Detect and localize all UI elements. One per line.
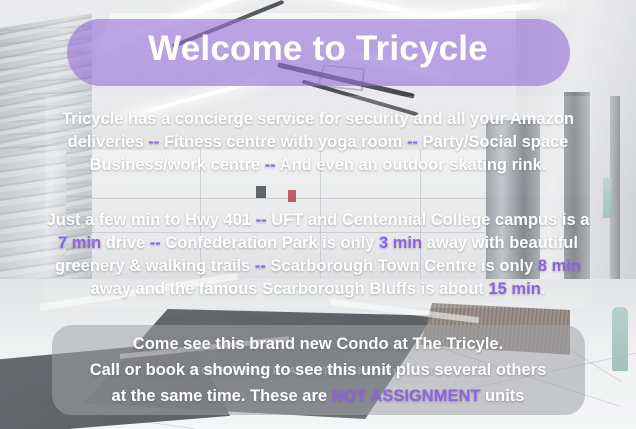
location-line-1b: UFT and Centennial College campus is a [267, 211, 590, 229]
cta-line-3b: units [480, 387, 524, 405]
amenities-paragraph: Tricycle has a concierge service for sec… [24, 108, 612, 177]
amenities-line-3a: Business/work centre [90, 156, 265, 174]
slide-content: Welcome to Tricycle Tricycle has a conci… [0, 0, 636, 429]
separator-dash: -- [407, 133, 418, 151]
cta-line-3a: at the same time. These are [112, 387, 332, 405]
location-line-4b: . [541, 280, 546, 298]
amenities-line-2b: Fitness centre with yoga room [159, 133, 407, 151]
location-paragraph: Just a few min to Hwy 401 -- UFT and Cen… [24, 209, 612, 301]
location-line-1a: Just a few min to Hwy 401 [47, 211, 256, 229]
amenities-line-3b: And even an outdoor skating rink. [276, 156, 547, 174]
separator-dash: -- [150, 234, 161, 252]
location-line-3a: greenery & walking trails [55, 257, 255, 275]
drive-time-3min: 3 min [379, 234, 422, 252]
drive-time-8min: 8 min [538, 257, 581, 275]
cta-line-2: Call or book a showing to see this unit … [90, 361, 547, 379]
location-line-2c: away with beautiful [422, 234, 578, 252]
not-assignment-highlight: NOT ASSIGNMENT [332, 387, 481, 405]
amenities-line-1: Tricycle has a concierge service for sec… [62, 110, 574, 128]
drive-time-7min: 7 min [58, 234, 101, 252]
location-line-3b: Scarborough Town Centre is only [266, 257, 538, 275]
separator-dash: -- [256, 211, 267, 229]
page-title: Welcome to Tricycle [0, 27, 636, 71]
separator-dash: -- [255, 257, 266, 275]
cta-paragraph: Come see this brand new Condo at The Tri… [24, 331, 612, 409]
separator-dash: -- [265, 156, 276, 174]
amenities-line-2a: deliveries [68, 133, 149, 151]
listing-slide: Welcome to Tricycle Tricycle has a conci… [0, 0, 636, 429]
location-line-2a: drive [101, 234, 150, 252]
separator-dash: -- [148, 133, 159, 151]
location-line-2b: Confederation Park is only [161, 234, 379, 252]
location-line-4a: away and the famous Scarborough Bluffs i… [91, 280, 489, 298]
amenities-line-2c: Party/Social space [418, 133, 568, 151]
cta-line-1: Come see this brand new Condo at The Tri… [133, 335, 503, 353]
drive-time-15min: 15 min [489, 280, 541, 298]
